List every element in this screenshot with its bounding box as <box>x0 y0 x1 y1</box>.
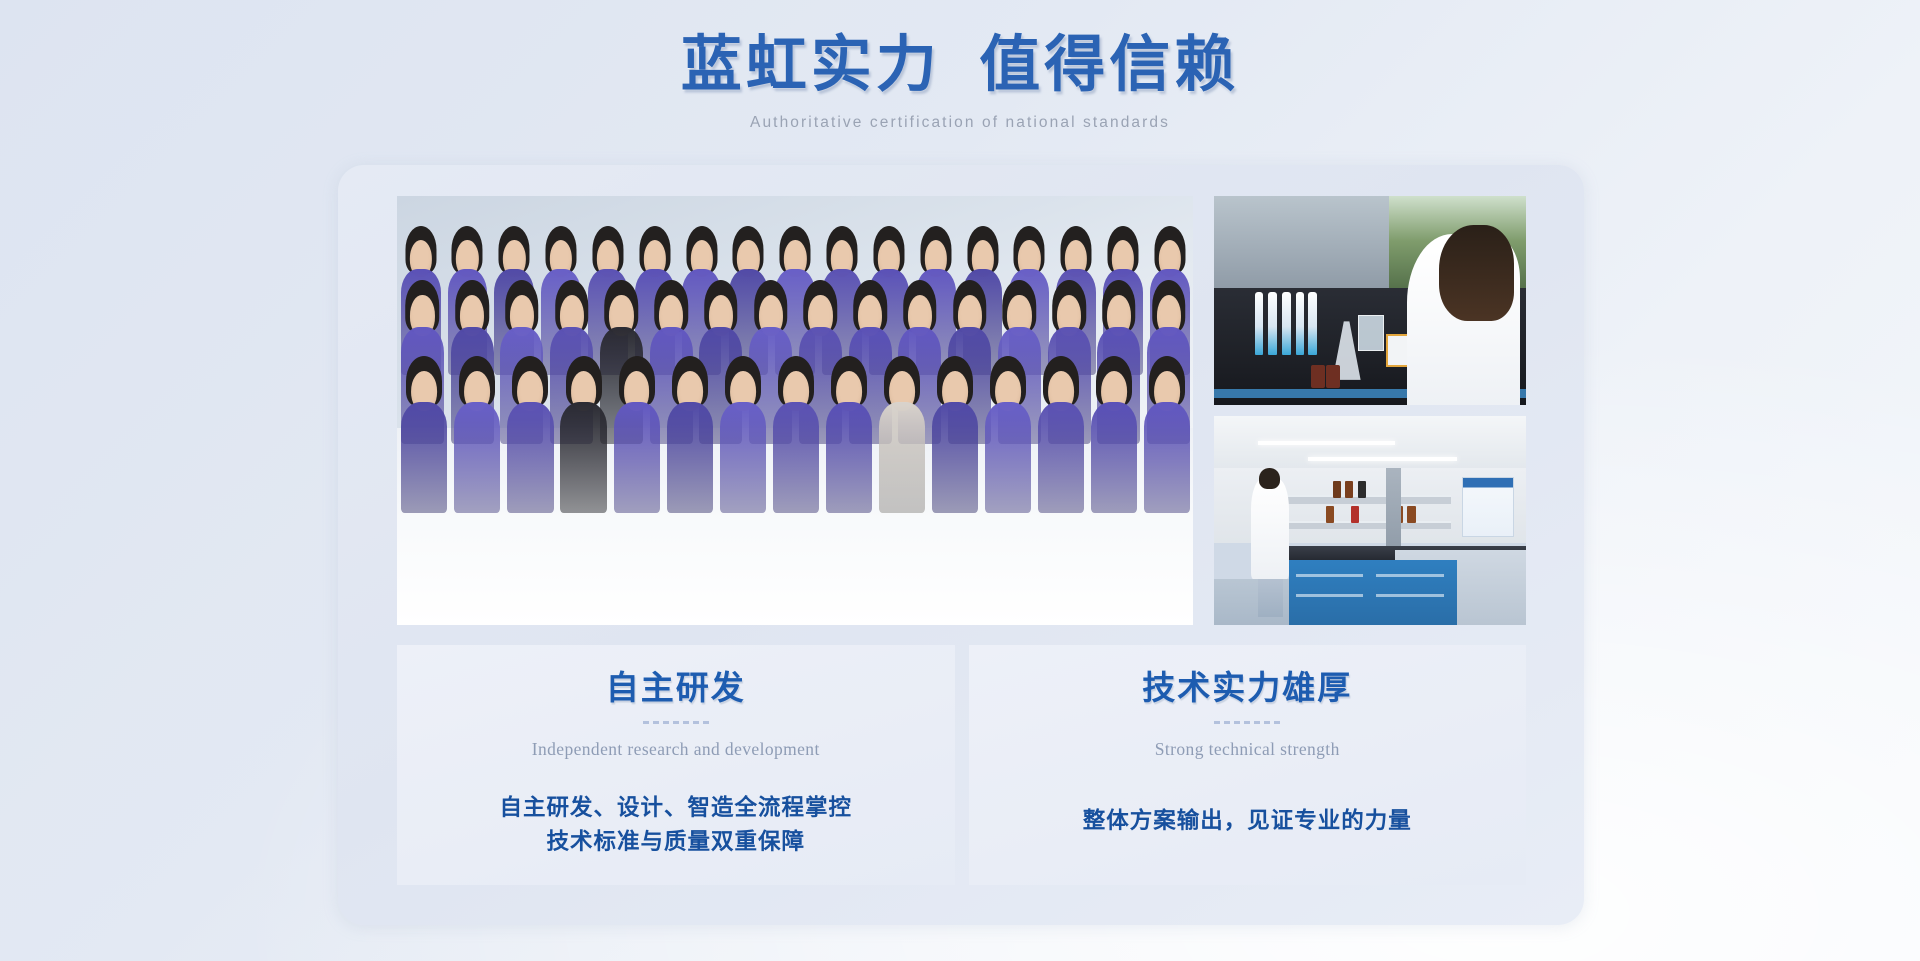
beaker <box>1358 315 1385 350</box>
reagent-bottle <box>1311 365 1325 388</box>
pipette-rack <box>1255 292 1317 355</box>
photo-person <box>454 365 500 514</box>
photo-person <box>667 365 713 514</box>
photo-person <box>507 365 553 514</box>
feature-card-body: 整体方案输出，见证专业的力量 <box>989 804 1507 838</box>
photo-person <box>720 365 766 514</box>
photo-person <box>773 402 819 514</box>
photo-person <box>879 402 925 514</box>
feature-card-rnd: 自主研发 Independent research and developmen… <box>397 645 955 885</box>
lab-cabinet-blue <box>1289 560 1457 625</box>
photo-person <box>401 365 447 514</box>
photo-person <box>560 365 606 514</box>
lab-wall <box>1214 196 1401 292</box>
photo-person <box>985 402 1031 514</box>
feature-card-body: 自主研发、设计、智造全流程掌控 技术标准与质量双重保障 <box>417 791 935 859</box>
photo-person <box>720 402 766 514</box>
feature-card-body-line: 整体方案输出，见证专业的力量 <box>989 804 1507 838</box>
researcher-legs <box>1258 575 1283 617</box>
photo-person <box>879 365 925 514</box>
feature-card-body-line: 技术标准与质量双重保障 <box>417 825 935 859</box>
divider-dots <box>643 721 709 724</box>
wall-poster <box>1462 477 1514 538</box>
lab-interior-photo <box>1214 416 1526 625</box>
page-subtitle: Authoritative certification of national … <box>0 114 1920 132</box>
photo-person <box>932 402 978 514</box>
feature-card-technical: 技术实力雄厚 Strong technical strength 整体方案输出，… <box>969 645 1527 885</box>
photo-person <box>932 365 978 514</box>
photo-person <box>560 402 606 514</box>
photo-person <box>1038 402 1084 514</box>
reagent-bottle <box>1326 365 1340 388</box>
researcher-head <box>1259 468 1279 489</box>
photo-person <box>614 365 660 514</box>
page-root: 蓝虹实力 值得信赖 Authoritative certification of… <box>0 0 1920 961</box>
feature-card-list: 自主研发 Independent research and developmen… <box>397 645 1526 885</box>
photo-person <box>826 365 872 514</box>
feature-card-body-line: 自主研发、设计、智造全流程掌控 <box>417 791 935 825</box>
photo-people-group <box>397 248 1193 514</box>
photo-person <box>985 365 1031 514</box>
photo-person <box>1038 365 1084 514</box>
photo-person <box>454 402 500 514</box>
photo-person <box>826 402 872 514</box>
researcher-labcoat <box>1251 479 1288 579</box>
feature-card-title: 技术实力雄厚 <box>989 669 1507 710</box>
photo-person <box>1144 402 1190 514</box>
photo-person <box>1091 365 1137 514</box>
photo-person <box>614 402 660 514</box>
photo-person <box>667 402 713 514</box>
page-title: 蓝虹实力 值得信赖 <box>0 30 1920 102</box>
photo-person <box>773 365 819 514</box>
feature-card-title: 自主研发 <box>417 669 935 710</box>
lab-pipetting-photo <box>1214 196 1526 405</box>
technician-hair <box>1439 225 1514 321</box>
photo-person <box>1144 365 1190 514</box>
photo-person <box>401 402 447 514</box>
feature-card-english: Independent research and development <box>417 739 935 760</box>
feature-card-english: Strong technical strength <box>989 739 1507 760</box>
page-header: 蓝虹实力 值得信赖 Authoritative certification of… <box>0 30 1920 132</box>
photo-person <box>507 402 553 514</box>
divider-dots <box>1214 721 1280 724</box>
lab-ceiling <box>1214 416 1526 472</box>
team-group-photo <box>397 196 1193 625</box>
photo-person <box>1091 402 1137 514</box>
